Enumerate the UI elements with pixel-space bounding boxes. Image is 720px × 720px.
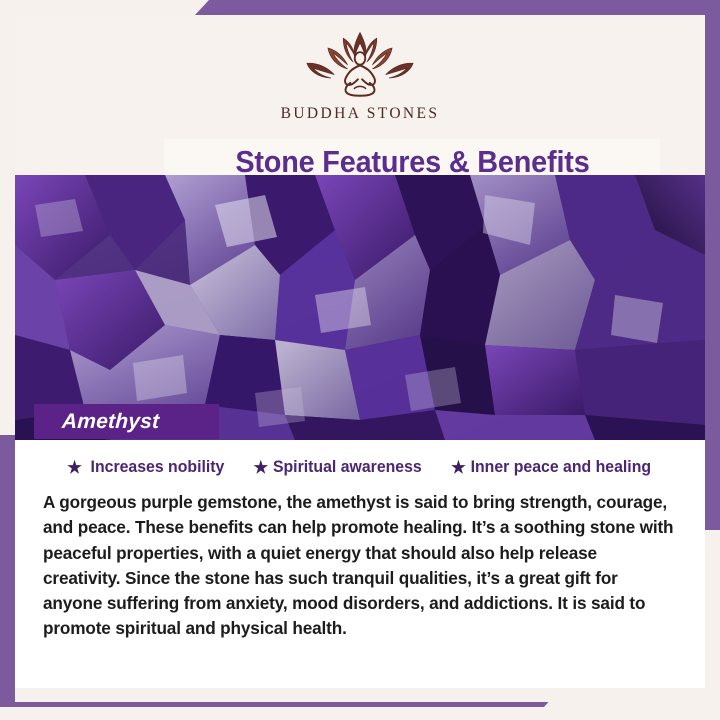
amethyst-crystal-cluster-image [15, 175, 705, 440]
bottom-page-strip [15, 688, 720, 702]
top-purple-bar [195, 0, 720, 15]
left-purple-bar [0, 435, 15, 707]
header: BUDDHA STONES Stone Features & Benefits [15, 15, 705, 175]
brand-name: BUDDHA STONES [281, 105, 440, 123]
benefit-item-3: ★ Inner peace and healing [451, 458, 651, 477]
lotus-meditation-icon [290, 27, 430, 101]
infographic-page: BUDDHA STONES Stone Features & Benefits [0, 0, 720, 720]
benefits-row: ★ Increases nobility ★ Spiritual awarene… [37, 458, 683, 490]
benefit-item-1: ★ Increases nobility [68, 458, 225, 477]
stone-description: A gorgeous purple gemstone, the amethyst… [37, 490, 683, 642]
stone-name-banner: Amethyst [34, 404, 219, 439]
star-icon: ★ [451, 459, 466, 476]
star-icon: ★ [68, 459, 83, 476]
star-icon: ★ [254, 459, 269, 476]
benefit-item-2: ★ Spiritual awareness [254, 458, 422, 477]
benefit-label-3: Inner peace and healing [471, 458, 651, 477]
stone-photo [15, 175, 705, 440]
benefit-label-1: Increases nobility [91, 458, 225, 477]
stone-name-label: Amethyst [33, 410, 160, 434]
content-panel: ★ Increases nobility ★ Spiritual awarene… [15, 440, 705, 689]
right-purple-bar [705, 0, 720, 530]
brand-logo: BUDDHA STONES [15, 27, 705, 123]
benefit-label-2: Spiritual awareness [273, 458, 422, 477]
